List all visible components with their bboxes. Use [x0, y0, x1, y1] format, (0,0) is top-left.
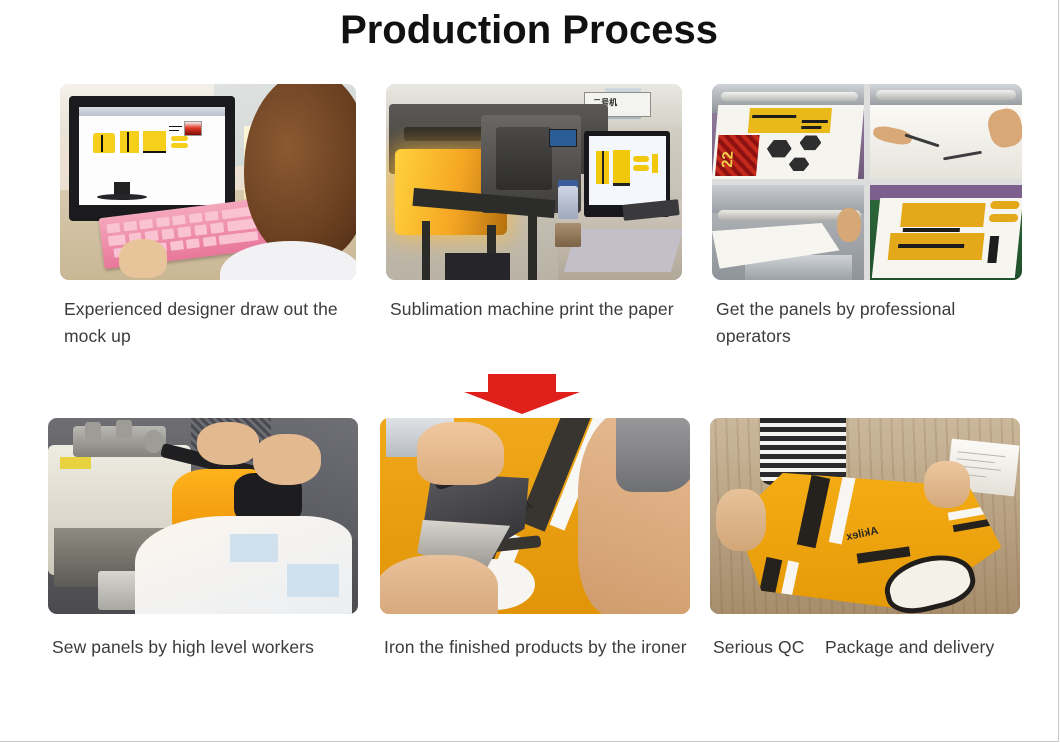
down-arrow-icon — [464, 374, 580, 414]
designer-workstation-photo — [60, 84, 356, 280]
production-process-poster: Production Process — [0, 0, 1059, 742]
step-1-caption: Experienced designer draw out the mock u… — [64, 296, 364, 350]
qc-packaging-photo: Akilex — [710, 418, 1020, 614]
sublimation-printer-photo: 二号机 — [386, 84, 682, 280]
panel-number: 22 — [719, 151, 737, 168]
step-3-caption: Get the panels by professional operators — [716, 296, 1016, 350]
ironing-photo: Akilex — [380, 418, 690, 614]
cut-panels-collage-photo: 22 — [712, 84, 1022, 280]
step-2-caption: Sublimation machine print the paper — [390, 296, 690, 323]
step-6-caption-b: Package and delivery — [825, 634, 994, 661]
step-5-caption: Iron the finished products by the ironer — [384, 634, 694, 661]
page-title: Production Process — [0, 8, 1058, 53]
sewing-photo — [48, 418, 358, 614]
step-6-caption-a: Serious QC — [713, 634, 804, 661]
step-4-caption: Sew panels by high level workers — [52, 634, 382, 661]
